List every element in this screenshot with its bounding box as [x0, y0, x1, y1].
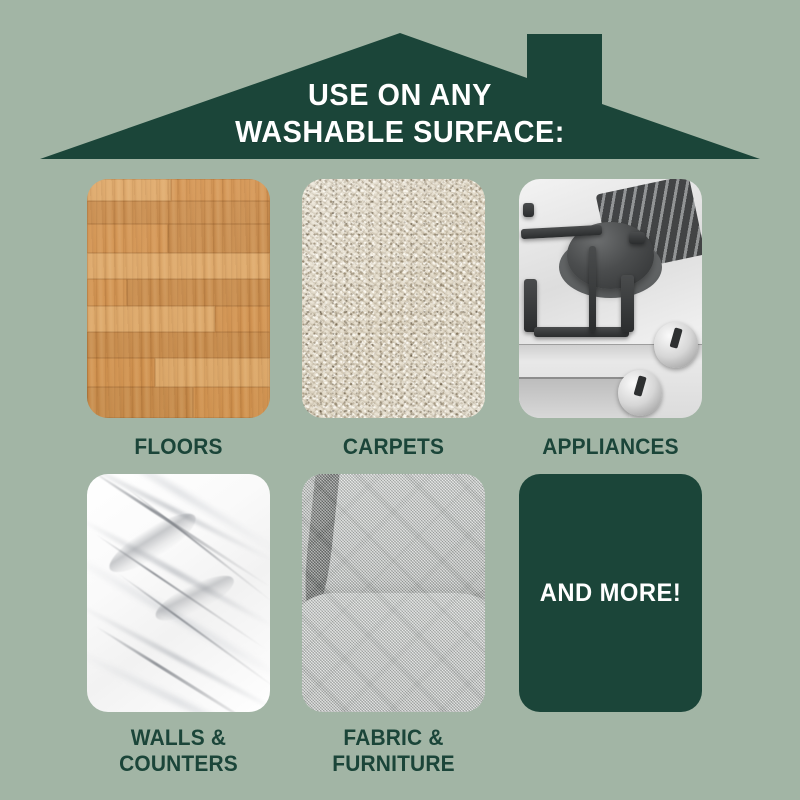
wood-floor-swatch — [87, 179, 270, 418]
surface-card-and-more[interactable]: AND MORE! — [519, 474, 702, 725]
surface-label-fabric-furniture: FABRIC & FURNITURE — [307, 725, 481, 777]
surface-label-walls-counters: WALLS & COUNTERS — [92, 725, 266, 777]
stove-knob-1[interactable] — [654, 322, 698, 367]
surface-label-appliances: APPLIANCES — [524, 434, 698, 460]
fabric-swatch — [302, 474, 485, 712]
sofa-back-cushion — [313, 474, 485, 598]
carpet-fiber-overlay — [302, 179, 485, 418]
surface-label-carpets: CARPETS — [307, 434, 481, 460]
surface-card-appliances[interactable]: APPLIANCES — [519, 179, 702, 460]
page-title-line-1: USE ON ANY — [28, 76, 772, 113]
surface-label-floors: FLOORS — [92, 434, 266, 460]
appliance-swatch — [519, 179, 702, 418]
surface-card-carpets[interactable]: CARPETS — [302, 179, 485, 460]
page-title-line-2: WASHABLE SURFACE: — [28, 113, 772, 150]
house-roof-header: USE ON ANY WASHABLE SURFACE: — [0, 0, 800, 165]
stove-knob-2[interactable] — [618, 370, 662, 415]
page-title: USE ON ANY WASHABLE SURFACE: — [28, 76, 772, 150]
stove-drawer — [519, 377, 629, 418]
carpet-swatch — [302, 179, 485, 418]
sofa-seat-cushion — [302, 593, 485, 712]
surface-card-walls-counters[interactable]: WALLS & COUNTERS — [87, 474, 270, 777]
and-more-text: AND MORE! — [540, 579, 681, 608]
surface-card-fabric-furniture[interactable]: FABRIC & FURNITURE — [302, 474, 485, 777]
surface-card-floors[interactable]: FLOORS — [87, 179, 270, 460]
and-more-swatch: AND MORE! — [519, 474, 702, 712]
marble-swatch — [87, 474, 270, 712]
